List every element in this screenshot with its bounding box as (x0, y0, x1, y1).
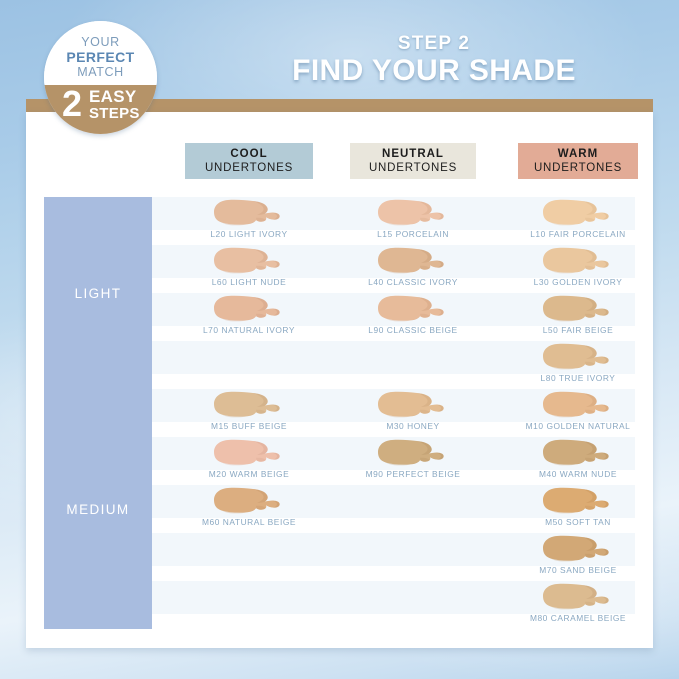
shade-name-label: L15 PORCELAIN (353, 229, 473, 239)
shade-name-label: M50 SOFT TAN (518, 517, 638, 527)
shade-cell[interactable]: L90 CLASSIC BEIGE (353, 294, 473, 335)
shade-name-label: M70 SAND BEIGE (518, 565, 638, 575)
group-label: LIGHT (75, 286, 122, 301)
shade-name-label: M80 CARAMEL BEIGE (518, 613, 638, 623)
shade-name-label: M20 WARM BEIGE (189, 469, 309, 479)
shade-name-label: L80 TRUE IVORY (518, 373, 638, 383)
group-label: MEDIUM (66, 502, 129, 517)
foundation-swatch-icon (375, 294, 451, 324)
shade-name-label: L50 FAIR BEIGE (518, 325, 638, 335)
shade-cell[interactable]: M90 PERFECT BEIGE (353, 438, 473, 479)
foundation-swatch-icon (540, 438, 616, 468)
shade-name-label: M15 BUFF BEIGE (189, 421, 309, 431)
foundation-swatch-icon (211, 486, 287, 516)
foundation-swatch-icon (540, 534, 616, 564)
shade-name-label: M60 NATURAL BEIGE (189, 517, 309, 527)
column-header-subtitle: UNDERTONES (369, 161, 457, 175)
step-label: STEP 2 (274, 33, 594, 55)
shade-cell[interactable]: M60 NATURAL BEIGE (189, 486, 309, 527)
column-header-warm: WARMUNDERTONES (518, 143, 638, 179)
page-title: FIND YOUR SHADE (254, 54, 614, 88)
shade-cell[interactable]: M50 SOFT TAN (518, 486, 638, 527)
column-header-title: COOL (230, 148, 267, 161)
shade-cell[interactable]: M15 BUFF BEIGE (189, 390, 309, 431)
shade-name-label: L60 LIGHT NUDE (189, 277, 309, 287)
shade-cell[interactable]: M40 WARM NUDE (518, 438, 638, 479)
column-header-neutral: NEUTRALUNDERTONES (350, 143, 476, 179)
foundation-swatch-icon (540, 582, 616, 612)
shade-cell[interactable]: L70 NATURAL IVORY (189, 294, 309, 335)
badge-line-match: MATCH (44, 65, 157, 79)
foundation-swatch-icon (540, 342, 616, 372)
shade-cell[interactable]: L15 PORCELAIN (353, 198, 473, 239)
shade-cell[interactable]: L40 CLASSIC IVORY (353, 246, 473, 287)
shade-cell[interactable]: M10 GOLDEN NATURAL (518, 390, 638, 431)
shade-name-label: M10 GOLDEN NATURAL (518, 421, 638, 431)
foundation-swatch-icon (211, 246, 287, 276)
column-header-title: WARM (558, 148, 598, 161)
shade-cell[interactable]: L60 LIGHT NUDE (189, 246, 309, 287)
shade-cell[interactable]: L20 LIGHT IVORY (189, 198, 309, 239)
column-header-subtitle: UNDERTONES (205, 161, 293, 175)
shade-cell[interactable]: M20 WARM BEIGE (189, 438, 309, 479)
foundation-swatch-icon (211, 198, 287, 228)
foundation-swatch-icon (211, 294, 287, 324)
foundation-swatch-icon (211, 390, 287, 420)
shade-name-label: L20 LIGHT IVORY (189, 229, 309, 239)
foundation-swatch-icon (540, 198, 616, 228)
badge-line-perfect: PERFECT (44, 49, 157, 65)
foundation-swatch-icon (211, 438, 287, 468)
column-header-subtitle: UNDERTONES (534, 161, 622, 175)
foundation-swatch-icon (375, 390, 451, 420)
shade-cell[interactable]: M70 SAND BEIGE (518, 534, 638, 575)
shade-name-label: L40 CLASSIC IVORY (353, 277, 473, 287)
foundation-swatch-icon (375, 198, 451, 228)
shade-name-label: L10 FAIR PORCELAIN (518, 229, 638, 239)
column-header-cool: COOLUNDERTONES (185, 143, 313, 179)
foundation-swatch-icon (540, 294, 616, 324)
shade-cell[interactable]: M30 HONEY (353, 390, 473, 431)
shade-name-label: M90 PERFECT BEIGE (353, 469, 473, 479)
foundation-swatch-icon (375, 438, 451, 468)
shade-cell[interactable]: L50 FAIR BEIGE (518, 294, 638, 335)
foundation-swatch-icon (540, 246, 616, 276)
group-block-light: LIGHT (44, 197, 152, 389)
foundation-swatch-icon (540, 390, 616, 420)
column-header-title: NEUTRAL (382, 148, 444, 161)
foundation-swatch-icon (375, 246, 451, 276)
foundation-swatch-icon (540, 486, 616, 516)
shade-name-label: L90 CLASSIC BEIGE (353, 325, 473, 335)
group-block-medium: MEDIUM (44, 389, 152, 629)
shade-name-label: M40 WARM NUDE (518, 469, 638, 479)
shade-cell[interactable]: L30 GOLDEN IVORY (518, 246, 638, 287)
badge-line-easy: EASY (89, 87, 149, 107)
shade-name-label: L30 GOLDEN IVORY (518, 277, 638, 287)
badge-line-steps: STEPS (89, 105, 149, 122)
perfect-match-badge: YOUR PERFECT MATCH 2 EASY STEPS (44, 21, 157, 134)
badge-step-number: 2 (55, 83, 89, 125)
shade-cell[interactable]: M80 CARAMEL BEIGE (518, 582, 638, 623)
shade-cell[interactable]: L10 FAIR PORCELAIN (518, 198, 638, 239)
shade-cell[interactable]: L80 TRUE IVORY (518, 342, 638, 383)
shade-name-label: M30 HONEY (353, 421, 473, 431)
shade-name-label: L70 NATURAL IVORY (189, 325, 309, 335)
badge-line-your: YOUR (44, 35, 157, 49)
